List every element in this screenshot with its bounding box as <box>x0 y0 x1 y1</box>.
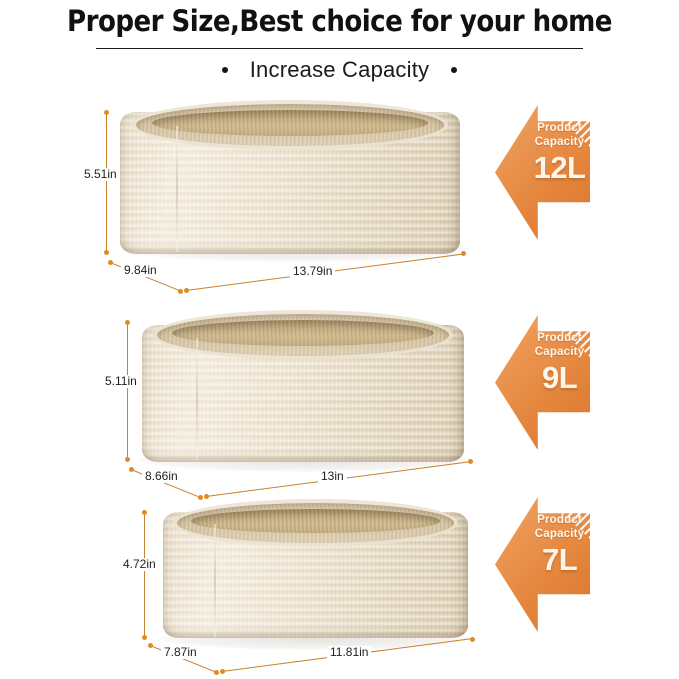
basket-group-small: 4.72in 7.87in 11.81in Product Capacity 7… <box>0 0 679 679</box>
dimension-line-height-small <box>144 512 145 638</box>
dimension-label-depth-small: 7.87in <box>161 646 200 659</box>
dimension-dot-depth-start-small <box>148 643 153 648</box>
dimension-label-width-small: 11.81in <box>327 646 371 659</box>
dimension-dot-width-end-small <box>470 637 475 642</box>
badge-caption-line1-small: Product <box>531 513 588 527</box>
dimension-dot-height-bottom-small <box>142 635 147 640</box>
badge-text-small: Product Capacity 7L <box>531 513 588 577</box>
dimension-dot-width-start-small <box>220 669 225 674</box>
dimension-dot-depth-end-small <box>214 670 219 675</box>
dimension-dot-height-top-small <box>142 510 147 515</box>
badge-capacity-value-small: 7L <box>531 543 588 577</box>
badge-caption-line2-small: Capacity <box>531 527 588 541</box>
product-infographic-page: Proper Size,Best choice for your home In… <box>0 0 679 679</box>
dimension-label-height-small: 4.72in <box>120 558 159 571</box>
basket-interior-small <box>191 509 440 533</box>
basket-corner-crease-small <box>214 524 216 637</box>
capacity-badge-small[interactable]: Product Capacity 7L <box>495 497 590 632</box>
